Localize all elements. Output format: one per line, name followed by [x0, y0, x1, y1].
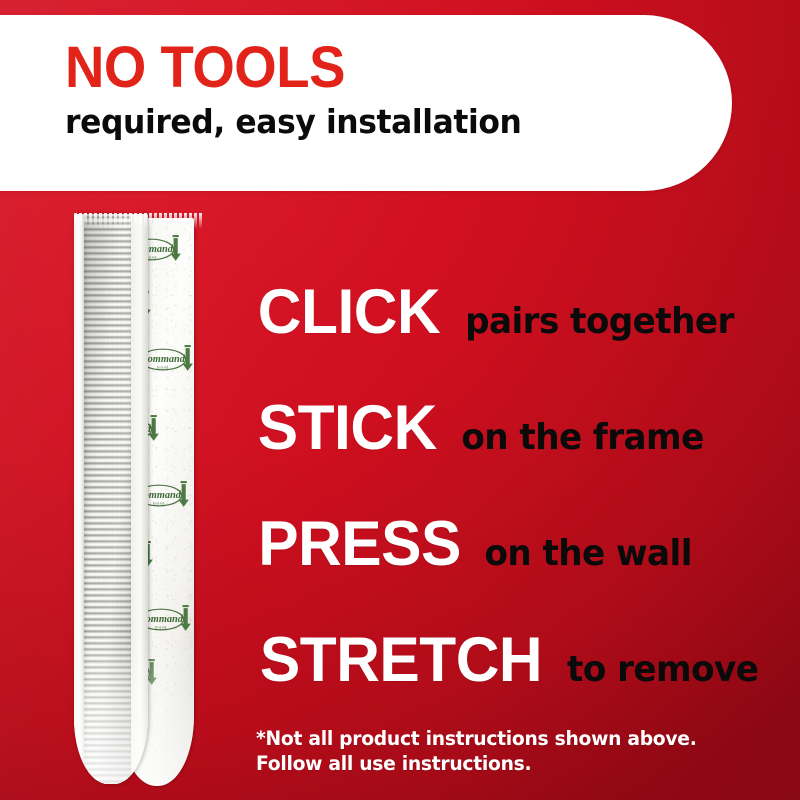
- step-keyword: PRESS: [258, 513, 461, 576]
- header-banner: NO TOOLS required, easy installation: [0, 15, 732, 191]
- footnote: *Not all product instructions shown abov…: [256, 726, 697, 776]
- step-description: on the wall: [485, 536, 692, 572]
- step-keyword: CLICK: [258, 281, 440, 344]
- subheadline: required, easy installation: [65, 102, 597, 142]
- instruction-step: CLICK pairs together: [254, 281, 754, 341]
- step-description: to remove: [567, 652, 758, 688]
- product-image: Command brand Command brand: [74, 214, 204, 794]
- step-description: on the frame: [461, 420, 703, 456]
- step-description: pairs together: [465, 304, 734, 340]
- step-keyword: STRETCH: [260, 629, 542, 692]
- fastener-teeth-texture: [84, 214, 132, 784]
- instruction-step: STICK on the frame: [254, 397, 754, 457]
- instruction-steps: CLICK pairs together STICK on the frame …: [254, 281, 754, 689]
- adhesive-strip-front: [74, 214, 148, 784]
- step-keyword: STICK: [258, 397, 437, 460]
- header-banner-text: NO TOOLS required, easy installation: [65, 37, 625, 142]
- strip-side-face: [131, 214, 148, 784]
- footnote-line-1: *Not all product instructions shown abov…: [256, 726, 697, 751]
- teeth-shading: [84, 214, 132, 784]
- headline: NO TOOLS: [65, 37, 591, 99]
- instruction-step: PRESS on the wall: [254, 513, 754, 573]
- footnote-line-2: Follow all use instructions.: [256, 751, 697, 776]
- marketing-image: NO TOOLS required, easy installation Com…: [0, 0, 800, 800]
- instruction-step: STRETCH to remove: [254, 629, 754, 689]
